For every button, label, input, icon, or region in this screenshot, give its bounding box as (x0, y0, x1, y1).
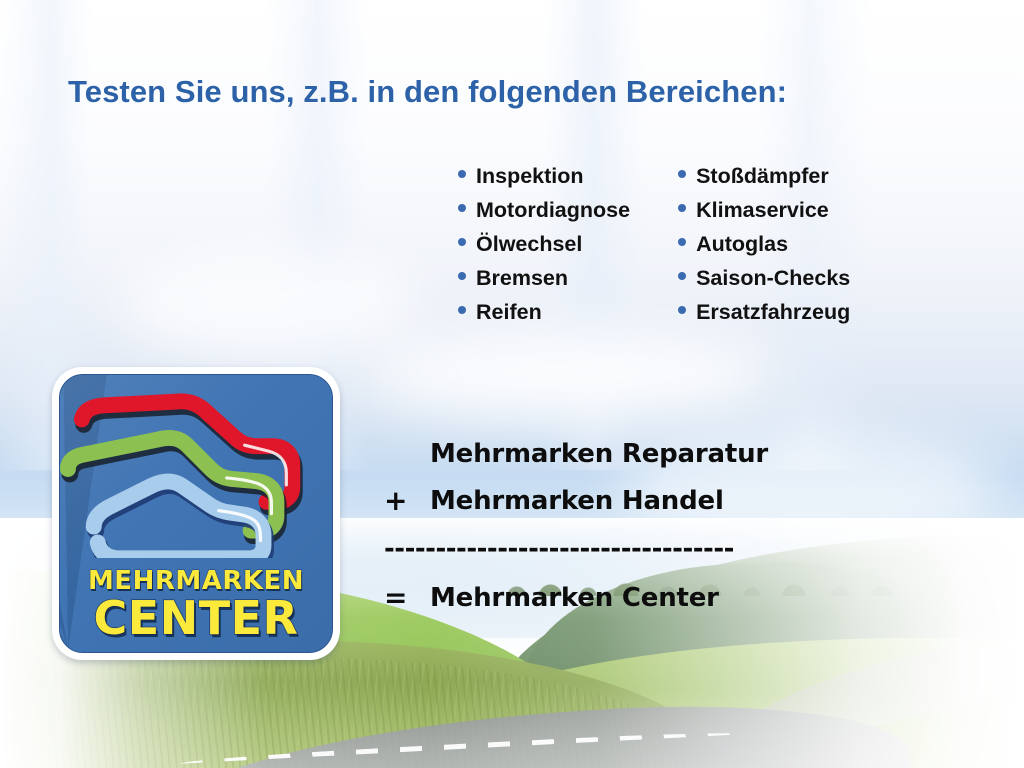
list-item: Stoßdämpfer (678, 164, 850, 198)
equation-operator-equals: = (384, 581, 430, 614)
landscape-road-centerline (180, 729, 739, 763)
list-item: Ölwechsel (458, 232, 630, 266)
bullet-dot-icon (458, 170, 466, 178)
bullet-dot-icon (458, 306, 466, 314)
bullet-dot-icon (678, 238, 686, 246)
car-outline-lightblue-icon (94, 481, 266, 558)
list-item: Bremsen (458, 266, 630, 300)
bullet-dot-icon (458, 204, 466, 212)
bullet-dot-icon (678, 170, 686, 178)
list-item-label: Stoßdämpfer (696, 164, 829, 189)
equation-operator-plus: + (384, 484, 430, 517)
landscape-grass-texture (0, 658, 700, 768)
list-item-label: Ölwechsel (476, 232, 582, 257)
list-item-label: Klimaservice (696, 198, 829, 223)
list-item-label: Saison-Checks (696, 266, 850, 291)
list-item-label: Bremsen (476, 266, 568, 291)
list-item: Klimaservice (678, 198, 850, 232)
equation-row-reparatur: Mehrmarken Reparatur (384, 430, 904, 477)
landscape-road-far (698, 629, 1024, 767)
mehrmarken-center-logo: MEHRMARKEN CENTER (52, 367, 340, 660)
list-item-label: Autoglas (696, 232, 788, 257)
equation-spacer (384, 524, 904, 534)
services-right-column: Stoßdämpfer Klimaservice Autoglas Saison… (678, 164, 850, 334)
page-title: Testen Sie uns, z.B. in den folgenden Be… (68, 74, 787, 110)
list-item-label: Ersatzfahrzeug (696, 300, 850, 325)
bullet-dot-icon (678, 306, 686, 314)
landscape-road (148, 691, 912, 768)
equation-row-handel: + Mehrmarken Handel (384, 477, 904, 524)
cloud-wisp-center (360, 330, 780, 420)
list-item: Autoglas (678, 232, 850, 266)
list-item: Inspektion (458, 164, 630, 198)
logo-wordmark: MEHRMARKEN CENTER (60, 568, 332, 642)
list-item-label: Reifen (476, 300, 542, 325)
bullet-dot-icon (458, 272, 466, 280)
logo-panel: MEHRMARKEN CENTER (59, 374, 333, 653)
equation-term: Mehrmarken Handel (430, 486, 724, 516)
equation-spacer (384, 564, 904, 574)
logo-wordmark-bottom: CENTER (60, 595, 332, 642)
equation-row-center: = Mehrmarken Center (384, 574, 904, 621)
list-item-label: Inspektion (476, 164, 584, 189)
logo-car-outlines (60, 383, 332, 558)
slide-canvas: Testen Sie uns, z.B. in den folgenden Be… (0, 0, 1024, 768)
list-item: Ersatzfahrzeug (678, 300, 850, 334)
equation-term: Mehrmarken Center (430, 583, 719, 613)
cloud-wisp-left (120, 250, 420, 360)
equation-divider: ---------------------------------- (384, 534, 889, 564)
services-lists: Inspektion Motordiagnose Ölwechsel Brems… (458, 164, 850, 334)
landscape-meadow-right (430, 638, 1024, 768)
bullet-dot-icon (458, 238, 466, 246)
bullet-dot-icon (678, 272, 686, 280)
equation-block: Mehrmarken Reparatur + Mehrmarken Handel… (384, 430, 904, 621)
bullet-dot-icon (678, 204, 686, 212)
list-item: Reifen (458, 300, 630, 334)
list-item: Saison-Checks (678, 266, 850, 300)
equation-term: Mehrmarken Reparatur (430, 439, 768, 469)
list-item-label: Motordiagnose (476, 198, 630, 223)
list-item: Motordiagnose (458, 198, 630, 232)
services-left-column: Inspektion Motordiagnose Ölwechsel Brems… (458, 164, 630, 334)
